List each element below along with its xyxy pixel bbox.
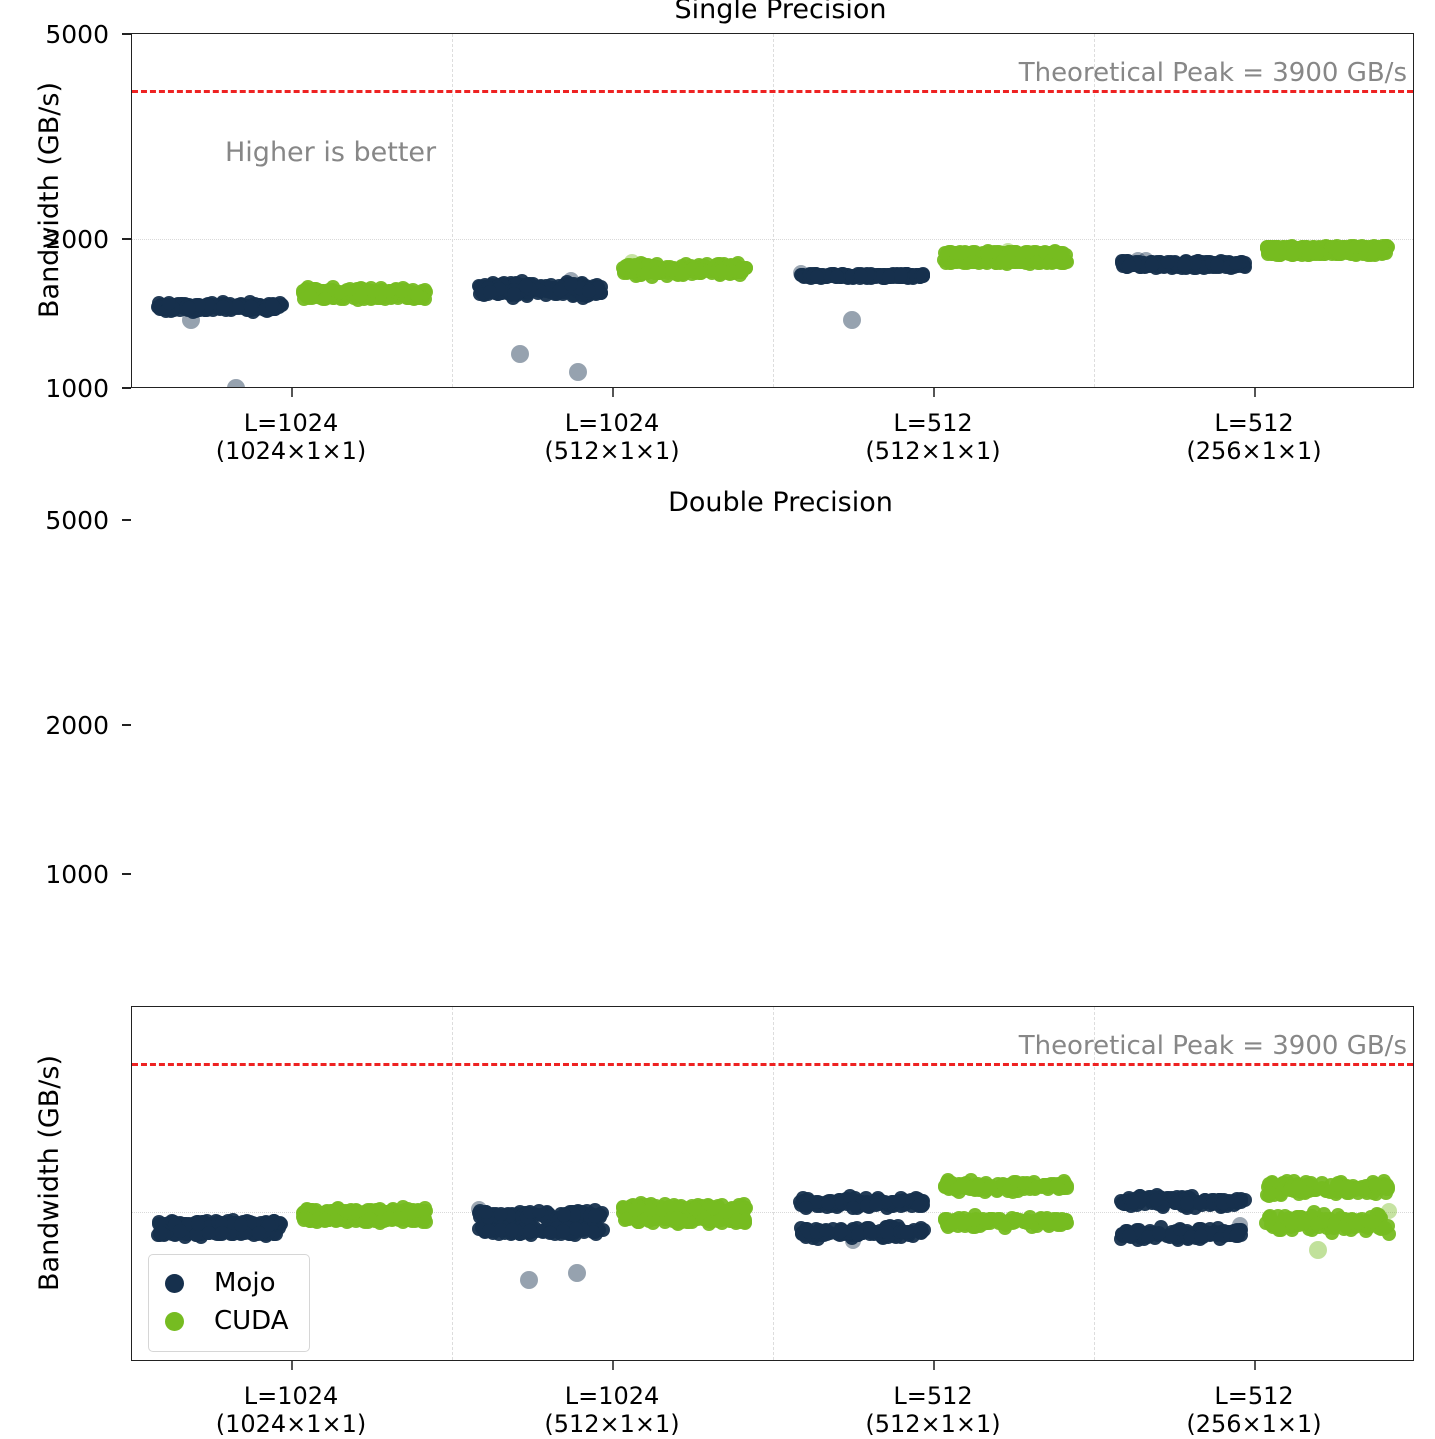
x-tick-label-1-double: L=1024 (512×1×1) — [544, 1382, 679, 1439]
data-point — [300, 1212, 314, 1226]
data-point — [879, 1220, 893, 1234]
data-point — [711, 260, 725, 274]
data-point — [494, 281, 508, 295]
data-point — [900, 267, 914, 281]
data-point — [219, 1217, 233, 1231]
data-point — [991, 1183, 1005, 1197]
data-point — [1358, 246, 1372, 260]
data-point — [1003, 248, 1017, 262]
plot-area-double: Theoretical Peak = 3900 GB/s Mojo CUDA — [131, 1006, 1414, 1361]
data-point — [812, 268, 826, 282]
data-point — [1331, 1176, 1345, 1190]
data-point — [998, 256, 1012, 270]
data-point — [1230, 1226, 1244, 1240]
data-point — [1323, 1216, 1337, 1230]
data-point — [575, 278, 589, 292]
data-point — [510, 1207, 524, 1221]
data-point — [1163, 257, 1177, 271]
data-point — [1060, 1216, 1074, 1230]
data-point — [265, 299, 279, 313]
data-point — [618, 1213, 632, 1227]
data-point — [1055, 1179, 1069, 1193]
data-point — [1302, 1216, 1316, 1230]
data-point — [261, 1227, 275, 1241]
data-point — [1334, 1215, 1348, 1229]
data-point — [309, 286, 323, 300]
data-point — [1370, 246, 1384, 260]
data-point — [803, 267, 817, 281]
data-point — [381, 1207, 395, 1221]
data-point — [950, 1179, 964, 1193]
data-point — [239, 1221, 253, 1235]
data-point — [1144, 259, 1158, 273]
data-point — [1017, 255, 1031, 269]
data-point — [510, 277, 524, 291]
data-point — [1368, 1216, 1382, 1230]
data-point — [1160, 259, 1174, 273]
data-point — [559, 1223, 573, 1237]
data-point — [490, 1218, 504, 1232]
data-point — [1044, 248, 1058, 262]
legend-item-mojo[interactable]: Mojo — [165, 1264, 289, 1302]
data-point — [842, 1225, 856, 1239]
data-point — [576, 1221, 590, 1235]
data-point — [558, 283, 572, 297]
data-point — [173, 1224, 187, 1238]
data-point — [575, 288, 589, 302]
data-point — [887, 269, 901, 283]
data-point — [1298, 246, 1312, 260]
data-point — [911, 269, 925, 283]
y-tick-mark-2000-single — [122, 238, 131, 240]
data-point — [989, 254, 1003, 268]
data-point — [250, 1225, 264, 1239]
data-point — [1119, 256, 1133, 270]
data-point — [1148, 257, 1162, 271]
data-point — [1145, 257, 1159, 271]
data-point — [243, 1225, 257, 1239]
data-point — [219, 1224, 233, 1238]
data-point — [337, 1212, 351, 1226]
data-point — [1028, 246, 1042, 260]
data-point — [996, 254, 1010, 268]
data-point — [1145, 1196, 1159, 1210]
data-point — [697, 1212, 711, 1226]
data-point — [269, 1227, 283, 1241]
data-point — [1327, 1221, 1341, 1235]
data-point — [834, 1222, 848, 1236]
data-point — [530, 281, 544, 295]
data-point — [1183, 1192, 1197, 1206]
data-point — [962, 247, 976, 261]
legend-item-cuda[interactable]: CUDA — [165, 1302, 289, 1340]
data-point — [1033, 247, 1047, 261]
data-point — [315, 1213, 329, 1227]
data-point — [1032, 1216, 1046, 1230]
y-tick-mark-1000-single — [122, 387, 131, 389]
data-point — [1185, 1189, 1199, 1203]
data-point — [223, 300, 237, 314]
data-point — [1277, 1176, 1291, 1190]
data-point — [701, 1214, 715, 1228]
data-point — [668, 262, 682, 276]
data-point — [1167, 1227, 1181, 1241]
data-point — [633, 1199, 647, 1213]
data-point — [1271, 240, 1285, 254]
data-point — [890, 270, 904, 284]
data-point — [683, 1201, 697, 1215]
data-point — [849, 1195, 863, 1209]
data-point — [481, 287, 495, 301]
data-point — [1378, 1179, 1392, 1193]
data-point — [395, 1212, 409, 1226]
data-point — [965, 1182, 979, 1196]
data-point — [1222, 257, 1236, 271]
data-point — [1039, 255, 1053, 269]
data-point — [394, 1204, 408, 1218]
data-point — [1302, 241, 1316, 255]
data-point — [568, 1207, 582, 1221]
data-point — [503, 283, 517, 297]
data-point — [200, 1224, 214, 1238]
data-point — [182, 300, 196, 314]
data-point — [303, 1214, 317, 1228]
data-point — [731, 1211, 745, 1225]
data-point — [891, 1225, 905, 1239]
data-point — [334, 1213, 348, 1227]
data-point — [408, 1213, 422, 1227]
data-point — [394, 286, 408, 300]
data-point — [886, 270, 900, 284]
data-point — [963, 1213, 977, 1227]
data-point — [696, 261, 710, 275]
data-point — [1372, 245, 1386, 259]
data-point — [1009, 245, 1023, 259]
data-point — [733, 1215, 747, 1229]
legend-label-cuda: CUDA — [214, 1306, 289, 1336]
data-point — [202, 1226, 216, 1240]
data-point — [1020, 247, 1034, 261]
data-point — [1273, 247, 1287, 261]
data-point — [1282, 247, 1296, 261]
data-point — [299, 284, 313, 298]
data-point — [826, 1196, 840, 1210]
data-point — [729, 260, 743, 274]
data-point — [364, 281, 378, 295]
data-point — [1375, 241, 1389, 255]
data-point — [485, 283, 499, 297]
data-point — [1261, 1180, 1275, 1194]
data-point — [968, 245, 982, 259]
data-point — [1265, 1176, 1279, 1190]
data-point — [886, 1220, 900, 1234]
data-point — [1303, 241, 1317, 255]
data-point — [339, 287, 353, 301]
data-point — [1340, 1186, 1354, 1200]
data-point — [622, 1211, 636, 1225]
data-point — [854, 267, 868, 281]
data-point — [1372, 1208, 1386, 1222]
data-point — [368, 1214, 382, 1228]
data-point — [385, 290, 399, 304]
data-point — [884, 268, 898, 282]
data-point — [179, 300, 193, 314]
data-point — [799, 269, 813, 283]
data-point — [794, 1221, 808, 1235]
data-point — [1017, 1215, 1031, 1229]
data-point — [634, 268, 648, 282]
data-point — [819, 1223, 833, 1237]
data-point — [1288, 1214, 1302, 1228]
data-point — [1146, 258, 1160, 272]
data-point — [1204, 1227, 1218, 1241]
data-point — [1291, 1177, 1305, 1191]
data-point — [803, 268, 817, 282]
data-point — [1311, 1214, 1325, 1228]
data-point — [962, 1181, 976, 1195]
data-point — [962, 246, 976, 260]
data-point — [893, 270, 907, 284]
data-point — [1192, 1222, 1206, 1236]
data-point — [308, 282, 322, 296]
data-point — [584, 1207, 598, 1221]
data-point — [330, 1202, 344, 1216]
data-point — [959, 1215, 973, 1229]
data-point — [1316, 240, 1330, 254]
data-point — [739, 261, 753, 275]
data-point — [577, 1225, 591, 1239]
data-point — [1038, 255, 1052, 269]
data-point — [1370, 246, 1384, 260]
data-point — [839, 1192, 853, 1206]
data-point — [330, 285, 344, 299]
data-point — [623, 258, 637, 272]
data-point — [1382, 1227, 1396, 1241]
data-point — [477, 281, 491, 295]
data-point — [839, 269, 853, 283]
data-point — [1127, 1226, 1141, 1240]
data-point — [252, 1226, 266, 1240]
data-point — [1206, 256, 1220, 270]
data-point — [717, 1209, 731, 1223]
data-point — [257, 1226, 271, 1240]
data-point — [809, 1222, 823, 1236]
data-point — [259, 1215, 273, 1229]
data-point — [1018, 253, 1032, 267]
data-point — [1054, 246, 1068, 260]
data-point — [730, 261, 744, 275]
data-point — [508, 1224, 522, 1238]
data-point — [356, 1214, 370, 1228]
data-point — [1026, 1215, 1040, 1229]
data-point — [856, 268, 870, 282]
data-point — [1002, 1214, 1016, 1228]
data-point — [197, 1215, 211, 1229]
data-point — [1180, 1224, 1194, 1238]
data-point — [473, 280, 487, 294]
data-point — [1349, 240, 1363, 254]
data-point — [325, 284, 339, 298]
data-point — [914, 1226, 928, 1240]
data-point — [406, 1203, 420, 1217]
data-point — [986, 247, 1000, 261]
data-point — [1284, 1220, 1298, 1234]
data-point — [493, 282, 507, 296]
data-point — [247, 1217, 261, 1231]
data-point — [1118, 1194, 1132, 1208]
data-point — [272, 300, 286, 314]
data-point — [1137, 1232, 1151, 1246]
data-point — [486, 284, 500, 298]
data-point — [692, 262, 706, 276]
data-point — [199, 1218, 213, 1232]
data-point — [514, 1223, 528, 1237]
data-point — [1368, 1178, 1382, 1192]
data-point — [169, 1227, 183, 1241]
data-point — [675, 1215, 689, 1229]
data-point — [631, 1215, 645, 1229]
data-point — [1261, 247, 1275, 261]
data-point — [1033, 256, 1047, 270]
data-point — [736, 1208, 750, 1222]
data-point — [1261, 240, 1275, 254]
data-point — [552, 1224, 566, 1238]
data-point — [1057, 1174, 1071, 1188]
x-tick-label-2-bottom-double: (512×1×1) — [865, 1410, 1000, 1438]
data-point — [342, 286, 356, 300]
data-point — [695, 1199, 709, 1213]
data-point — [620, 266, 634, 280]
data-point — [733, 268, 747, 282]
data-point — [1310, 245, 1324, 259]
data-point — [181, 1218, 195, 1232]
data-point — [1333, 1177, 1347, 1191]
data-point — [652, 264, 666, 278]
data-point — [1056, 256, 1070, 270]
data-point — [1204, 1196, 1218, 1210]
data-point — [379, 287, 393, 301]
data-point — [540, 1208, 554, 1222]
data-point — [659, 264, 673, 278]
data-point — [300, 290, 314, 304]
data-point — [1038, 246, 1052, 260]
data-point — [534, 1208, 548, 1222]
data-point — [1206, 257, 1220, 271]
data-point — [1315, 245, 1329, 259]
data-point — [189, 298, 203, 312]
data-point — [685, 1212, 699, 1226]
data-point — [1123, 257, 1137, 271]
data-point — [399, 1213, 413, 1227]
data-point — [254, 299, 268, 313]
data-point — [1206, 1197, 1220, 1211]
data-point — [363, 1212, 377, 1226]
data-point — [855, 1224, 869, 1238]
data-point — [318, 1213, 332, 1227]
data-point — [538, 1208, 552, 1222]
data-point — [158, 300, 172, 314]
data-point — [350, 1204, 364, 1218]
data-point — [387, 287, 401, 301]
data-point — [301, 280, 315, 294]
data-point — [475, 286, 489, 300]
data-point — [897, 1198, 911, 1212]
data-point — [1344, 239, 1358, 253]
data-point — [883, 268, 897, 282]
data-point — [494, 286, 508, 300]
data-point — [196, 302, 210, 316]
data-point — [706, 264, 720, 278]
data-point — [582, 281, 596, 295]
data-point — [377, 287, 391, 301]
data-point — [853, 269, 867, 283]
data-point — [550, 1211, 564, 1225]
data-point — [1223, 1228, 1237, 1242]
data-point — [243, 1216, 257, 1230]
data-point — [495, 277, 509, 291]
data-point — [1381, 240, 1395, 254]
data-point — [1170, 1230, 1184, 1244]
data-point — [593, 1208, 607, 1222]
data-point — [947, 1181, 961, 1195]
data-point — [724, 262, 738, 276]
data-point — [986, 254, 1000, 268]
data-point — [413, 291, 427, 305]
data-point — [195, 299, 209, 313]
data-point — [1115, 256, 1129, 270]
data-point — [1213, 1196, 1227, 1210]
data-point — [652, 1202, 666, 1216]
vgridline-2-single — [773, 34, 774, 387]
data-point — [257, 1217, 271, 1231]
data-point — [846, 269, 860, 283]
data-point — [898, 1197, 912, 1211]
data-point — [1031, 248, 1045, 262]
data-point — [1364, 240, 1378, 254]
data-point — [1281, 246, 1295, 260]
theoretical-peak-line-double — [132, 1063, 1413, 1066]
data-point — [878, 1225, 892, 1239]
data-point — [1132, 1192, 1146, 1206]
data-point — [1051, 1217, 1065, 1231]
data-point — [969, 1216, 983, 1230]
data-point — [1227, 1198, 1241, 1212]
data-point — [1355, 246, 1369, 260]
data-point — [545, 284, 559, 298]
data-point — [588, 1203, 602, 1217]
data-point — [886, 268, 900, 282]
data-point — [215, 297, 229, 311]
data-point — [324, 1211, 338, 1225]
data-point — [1310, 246, 1324, 260]
data-point — [1049, 1180, 1063, 1194]
data-point — [700, 257, 714, 271]
data-point — [1126, 1227, 1140, 1241]
data-point — [1117, 1196, 1131, 1210]
data-point — [916, 267, 930, 281]
data-point — [1284, 240, 1298, 254]
data-point — [1350, 1181, 1364, 1195]
data-point — [1177, 258, 1191, 272]
data-point — [1224, 256, 1238, 270]
data-point — [976, 247, 990, 261]
data-point — [1023, 1180, 1037, 1194]
data-point — [672, 1204, 686, 1218]
data-point — [1035, 1180, 1049, 1194]
data-point — [172, 1219, 186, 1233]
data-point — [1281, 1182, 1295, 1196]
data-point — [964, 1173, 978, 1187]
